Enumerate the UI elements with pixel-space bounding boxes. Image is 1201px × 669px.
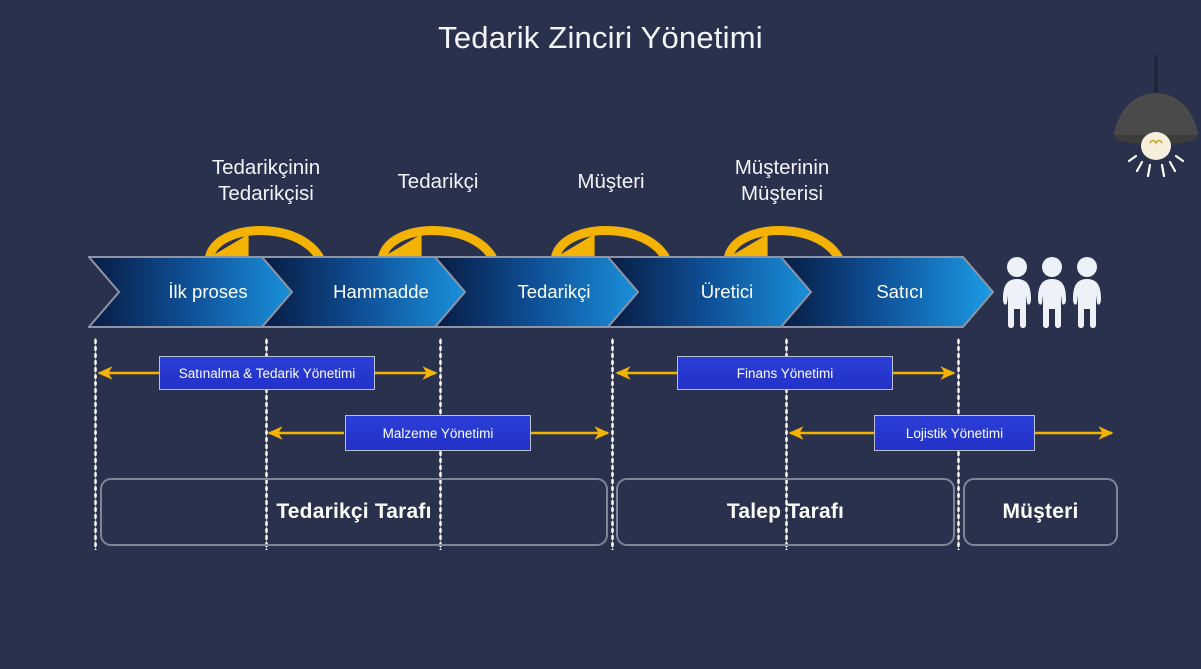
top-label-line-2: Tedarikçisi [176, 181, 356, 207]
section-box-tedarikci-tarafi[interactable]: Tedarikçi Tarafı [100, 478, 608, 546]
mgmt-box-label: Lojistik Yönetimi [906, 426, 1003, 441]
guide-line-4 [611, 338, 614, 550]
slide-canvas: Tedarik Zinciri Yönetimi Tedarikçinin Te… [0, 0, 1201, 669]
pendant-lamp-icon [1106, 55, 1201, 190]
mgmt-box-label: Satınalma & Tedarik Yönetimi [179, 366, 356, 381]
curved-arrows-layer [0, 0, 1201, 669]
mgmt-box-lojistik-yonetimi[interactable]: Lojistik Yönetimi [874, 415, 1035, 451]
chevron-label-tedarikci: Tedarikçi [464, 256, 644, 328]
top-label-line-1: Müşteri [531, 169, 691, 195]
top-label-musterinin-musterisi: Müşterinin Müşterisi [692, 155, 872, 207]
top-label-tedarikcinin-tedarikcisi: Tedarikçinin Tedarikçisi [176, 155, 356, 207]
top-label-musteri: Müşteri [531, 169, 691, 195]
top-label-tedarikci: Tedarikçi [358, 169, 518, 195]
page-title: Tedarik Zinciri Yönetimi [0, 20, 1201, 56]
top-label-line-1: Tedarikçi [358, 169, 518, 195]
mgmt-box-satinalma-tedarik-yonetimi[interactable]: Satınalma & Tedarik Yönetimi [159, 356, 375, 390]
top-label-line-1: Tedarikçinin [176, 155, 356, 181]
section-box-label: Talep Tarafı [727, 500, 844, 524]
mgmt-box-label: Finans Yönetimi [737, 366, 834, 381]
mgmt-box-label: Malzeme Yönetimi [383, 426, 494, 441]
mgmt-box-finans-yonetimi[interactable]: Finans Yönetimi [677, 356, 893, 390]
section-box-musteri[interactable]: Müşteri [963, 478, 1118, 546]
mgmt-box-malzeme-yonetimi[interactable]: Malzeme Yönetimi [345, 415, 531, 451]
section-box-label: Tedarikçi Tarafı [276, 500, 431, 524]
chevron-label-satici: Satıcı [810, 256, 990, 328]
people-group-icon [1000, 255, 1105, 330]
process-chevron-band: İlk proses Hammadde Tedarikçi Üretici Sa… [88, 256, 994, 328]
guide-line-1 [94, 338, 97, 550]
top-label-line-2: Müşterisi [692, 181, 872, 207]
top-label-line-1: Müşterinin [692, 155, 872, 181]
section-box-talep-tarafi[interactable]: Talep Tarafı [616, 478, 955, 546]
management-arrows-layer [0, 0, 1201, 669]
chevron-label-hammadde: Hammadde [291, 256, 471, 328]
chevron-label-uretici: Üretici [637, 256, 817, 328]
section-box-label: Müşteri [1002, 500, 1078, 524]
chevron-label-ilk-proses: İlk proses [118, 256, 298, 328]
